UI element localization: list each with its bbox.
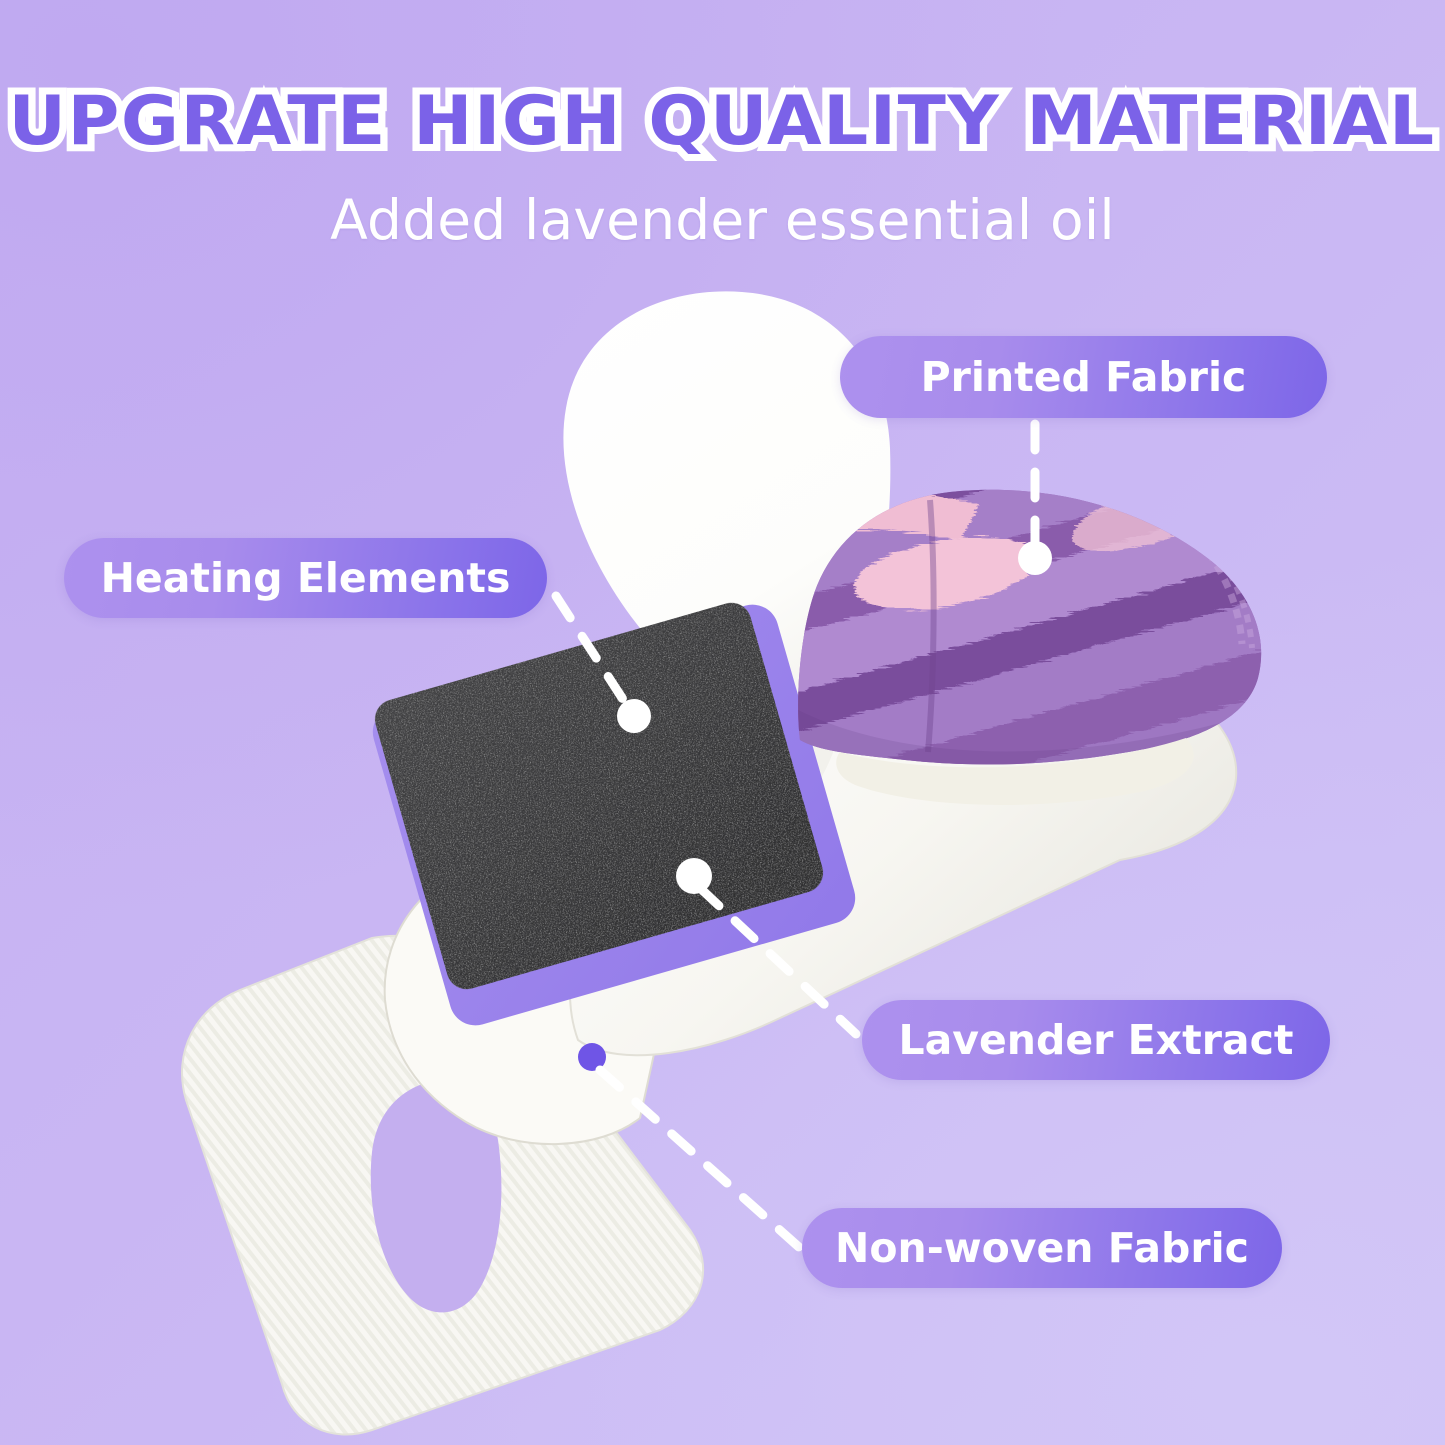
- callout-non-woven-fabric: Non-woven Fabric: [802, 1208, 1282, 1288]
- page-title-text: UPGRATE HIGH QUALITY MATERIAL: [9, 88, 1436, 156]
- page-subtitle: Added lavender essential oil: [0, 193, 1445, 248]
- callout-lavender-extract-label: Lavender Extract: [898, 1016, 1293, 1064]
- page-title: UPGRATE HIGH QUALITY MATERIAL: [0, 88, 1445, 156]
- infographic-canvas: UPGRATE HIGH QUALITY MATERIAL Added lave…: [0, 0, 1445, 1445]
- callout-lavender-extract: Lavender Extract: [862, 1000, 1330, 1080]
- callout-non-woven-fabric-label: Non-woven Fabric: [835, 1224, 1249, 1272]
- page-subtitle-text: Added lavender essential oil: [330, 193, 1115, 248]
- callout-heating-elements: Heating Elements: [64, 538, 547, 618]
- callout-printed-fabric-label: Printed Fabric: [921, 353, 1247, 401]
- callout-printed-fabric: Printed Fabric: [840, 336, 1327, 418]
- callout-heating-elements-label: Heating Elements: [101, 554, 511, 602]
